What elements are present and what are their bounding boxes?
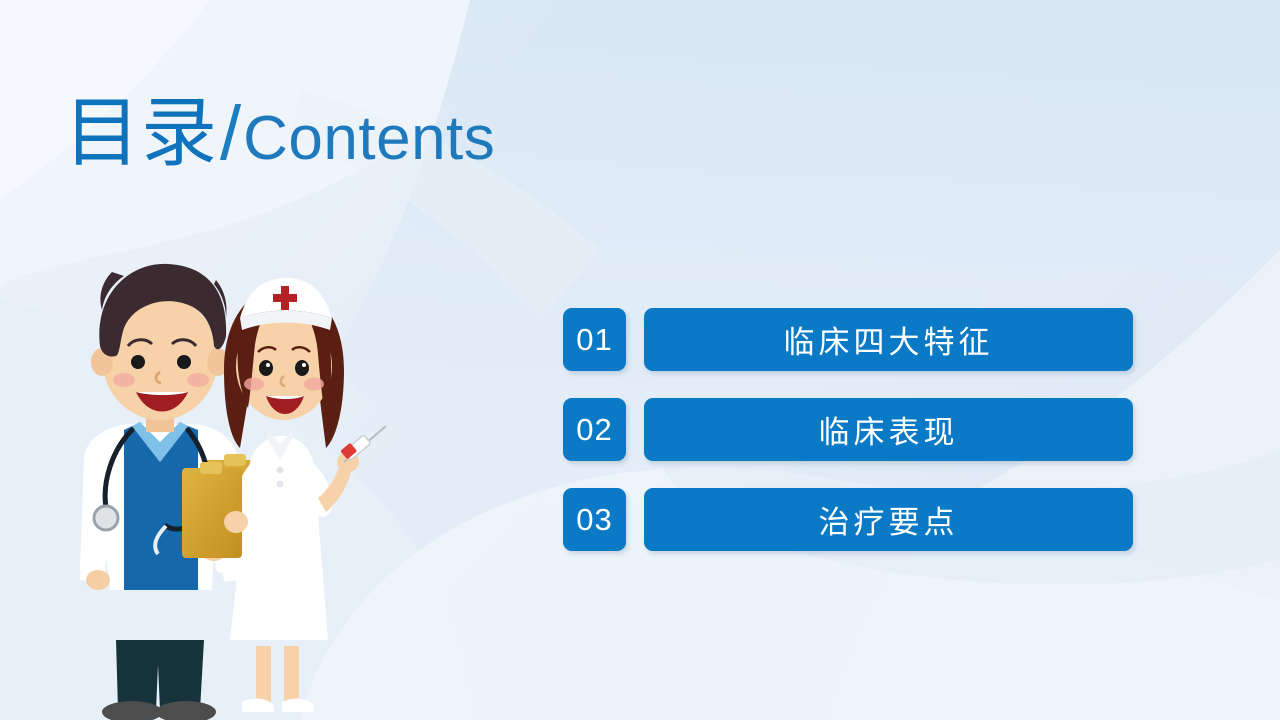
contents-item-02[interactable]: 02 临床表现: [563, 398, 1133, 461]
stethoscope-chestpiece: [94, 506, 118, 530]
contents-number-02: 02: [563, 398, 626, 461]
nurse-cheek-right: [304, 378, 324, 391]
contents-list: 01 临床四大特征 02 临床表现 03 治疗要点: [563, 308, 1133, 551]
contents-number-03: 03: [563, 488, 626, 551]
doctor-hand-left: [86, 570, 110, 590]
nurse-clipboard-clip: [200, 462, 222, 474]
contents-item-03[interactable]: 03 治疗要点: [563, 488, 1133, 551]
page-title-en: Contents: [243, 104, 495, 173]
contents-label-03[interactable]: 治疗要点: [644, 488, 1133, 551]
page-title: 目录/Contents: [64, 96, 495, 172]
nurse-leg-left: [256, 646, 271, 702]
nurse-eye-left-glint: [266, 363, 270, 367]
nurse-eye-right-glint: [302, 363, 306, 367]
doctor-eye-left: [131, 355, 145, 369]
nurse-cheek-left: [244, 378, 264, 391]
nurse-leg-right: [284, 646, 299, 702]
nurse-eye-left: [259, 360, 273, 376]
doctor-cheek-right: [187, 373, 209, 387]
nurse-button-1: [277, 467, 284, 474]
clipboard-clip: [224, 454, 246, 466]
contents-item-01[interactable]: 01 临床四大特征: [563, 308, 1133, 371]
medical-staff-illustration: [28, 250, 458, 720]
page-title-separator: /: [218, 91, 243, 176]
contents-label-02[interactable]: 临床表现: [644, 398, 1133, 461]
red-cross-horizontal: [273, 294, 297, 302]
nurse-eye-right: [295, 360, 309, 376]
nurse-shoe-right: [282, 699, 314, 712]
slide-canvas: 目录/Contents: [0, 0, 1280, 720]
page-title-cn: 目录: [64, 91, 218, 176]
contents-label-01[interactable]: 临床四大特征: [644, 308, 1133, 371]
contents-number-01: 01: [563, 308, 626, 371]
doctor-eye-right: [177, 355, 191, 369]
doctor-trousers: [116, 640, 204, 710]
nurse-clipboard: [182, 462, 242, 558]
nurse-hand-left: [224, 511, 248, 533]
doctor-and-nurse-graphic: [28, 250, 458, 720]
nurse-button-2: [277, 481, 284, 488]
syringe: [340, 426, 386, 462]
doctor-cheek-left: [113, 373, 135, 387]
